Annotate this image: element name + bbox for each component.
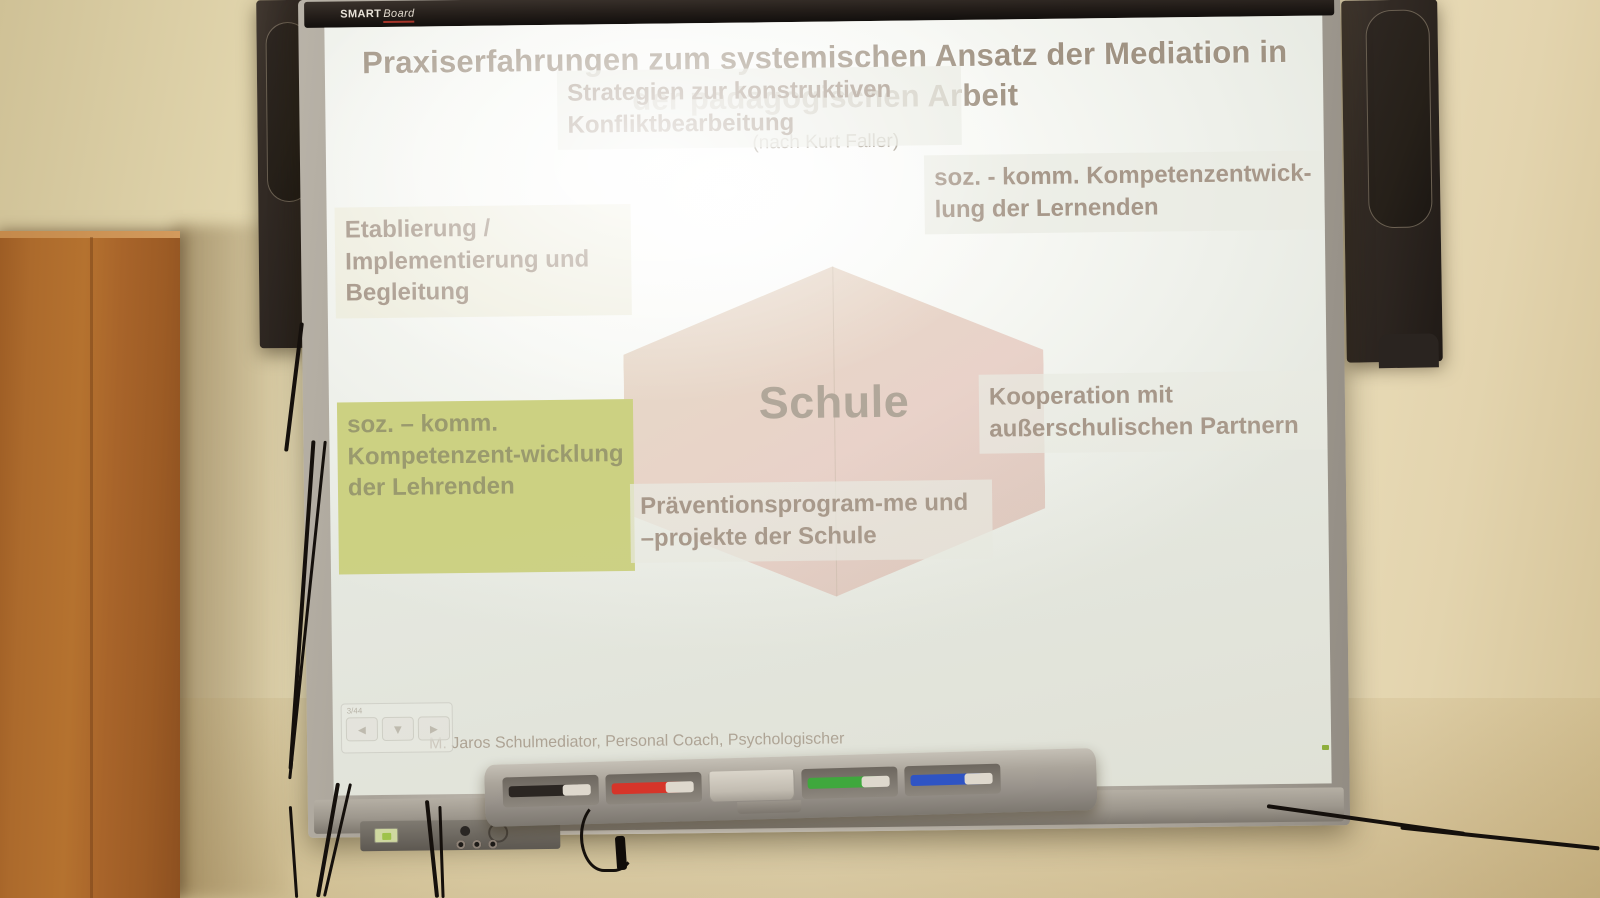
speaker-grill-icon bbox=[1365, 9, 1432, 228]
slideshow-nav-buttons[interactable]: ◄ ▼ ► bbox=[346, 716, 450, 741]
slideshow-nav-widget[interactable]: 3/44 ◄ ▼ ► bbox=[341, 702, 454, 753]
eraser-slot[interactable] bbox=[708, 769, 795, 801]
eraser[interactable] bbox=[708, 769, 795, 801]
smart-board[interactable]: SMARTBoard Praxiserfahrungen zum systemi… bbox=[298, 0, 1350, 838]
green-pen-cap[interactable] bbox=[861, 776, 889, 788]
av-port[interactable] bbox=[456, 840, 465, 849]
slide-page-indicator: 3/44 bbox=[347, 706, 363, 715]
pen-slot-red[interactable] bbox=[605, 772, 702, 805]
pen-slot-green[interactable] bbox=[801, 766, 898, 799]
slide-box-strategien: Strategien zur konstruktiven Konfliktbea… bbox=[557, 66, 962, 150]
presentation-slide: Praxiserfahrungen zum systemischen Ansat… bbox=[324, 15, 1331, 795]
slide-box-kooperation: Kooperation mit außerschulischen Partner… bbox=[979, 370, 1328, 454]
speaker-right bbox=[1341, 0, 1443, 363]
logo-smart-text: SMART bbox=[340, 8, 381, 21]
status-led-icon bbox=[1322, 745, 1329, 750]
blue-pen-cap[interactable] bbox=[964, 773, 992, 785]
slideshow-menu-button[interactable]: ▼ bbox=[382, 717, 414, 741]
projection-screen[interactable]: Praxiserfahrungen zum systemischen Ansat… bbox=[324, 15, 1331, 795]
av-port[interactable] bbox=[488, 840, 497, 849]
prev-slide-button[interactable]: ◄ bbox=[346, 717, 378, 741]
slide-box-praevention: Präventionsprogram-me und –projekte der … bbox=[630, 480, 993, 564]
logo-board-text: Board bbox=[383, 8, 415, 23]
footer-line-1: M. Jaros Schulmediator, Personal Coach, … bbox=[429, 730, 844, 752]
pen-slot-black[interactable] bbox=[502, 775, 599, 808]
next-slide-button[interactable]: ► bbox=[418, 716, 450, 740]
speaker-mount bbox=[1378, 333, 1439, 368]
wooden-cabinet bbox=[0, 231, 180, 898]
slide-box-lehrende: soz. – komm. Kompetenzent-wicklung der L… bbox=[337, 399, 635, 575]
pen-slot-blue[interactable] bbox=[904, 764, 1001, 797]
black-pen-cap[interactable] bbox=[563, 784, 591, 796]
classroom-wall: SMARTBoard Praxiserfahrungen zum systemi… bbox=[0, 0, 1600, 898]
port-small[interactable] bbox=[460, 826, 470, 836]
slide-box-lernende: soz. - komm. Kompetenzentwick-lung der L… bbox=[924, 150, 1325, 234]
cabinet-panel-seam bbox=[90, 237, 93, 898]
power-led-icon bbox=[374, 828, 398, 843]
av-port[interactable] bbox=[472, 840, 481, 849]
av-port-row[interactable] bbox=[456, 839, 544, 849]
red-pen-cap[interactable] bbox=[666, 781, 694, 793]
slide-box-etablierung: Etablierung / Implementierung und Beglei… bbox=[335, 204, 632, 319]
smart-board-logo: SMARTBoard bbox=[340, 8, 415, 21]
cable-loop bbox=[580, 800, 638, 872]
pen-tray-buttons[interactable] bbox=[737, 800, 801, 814]
